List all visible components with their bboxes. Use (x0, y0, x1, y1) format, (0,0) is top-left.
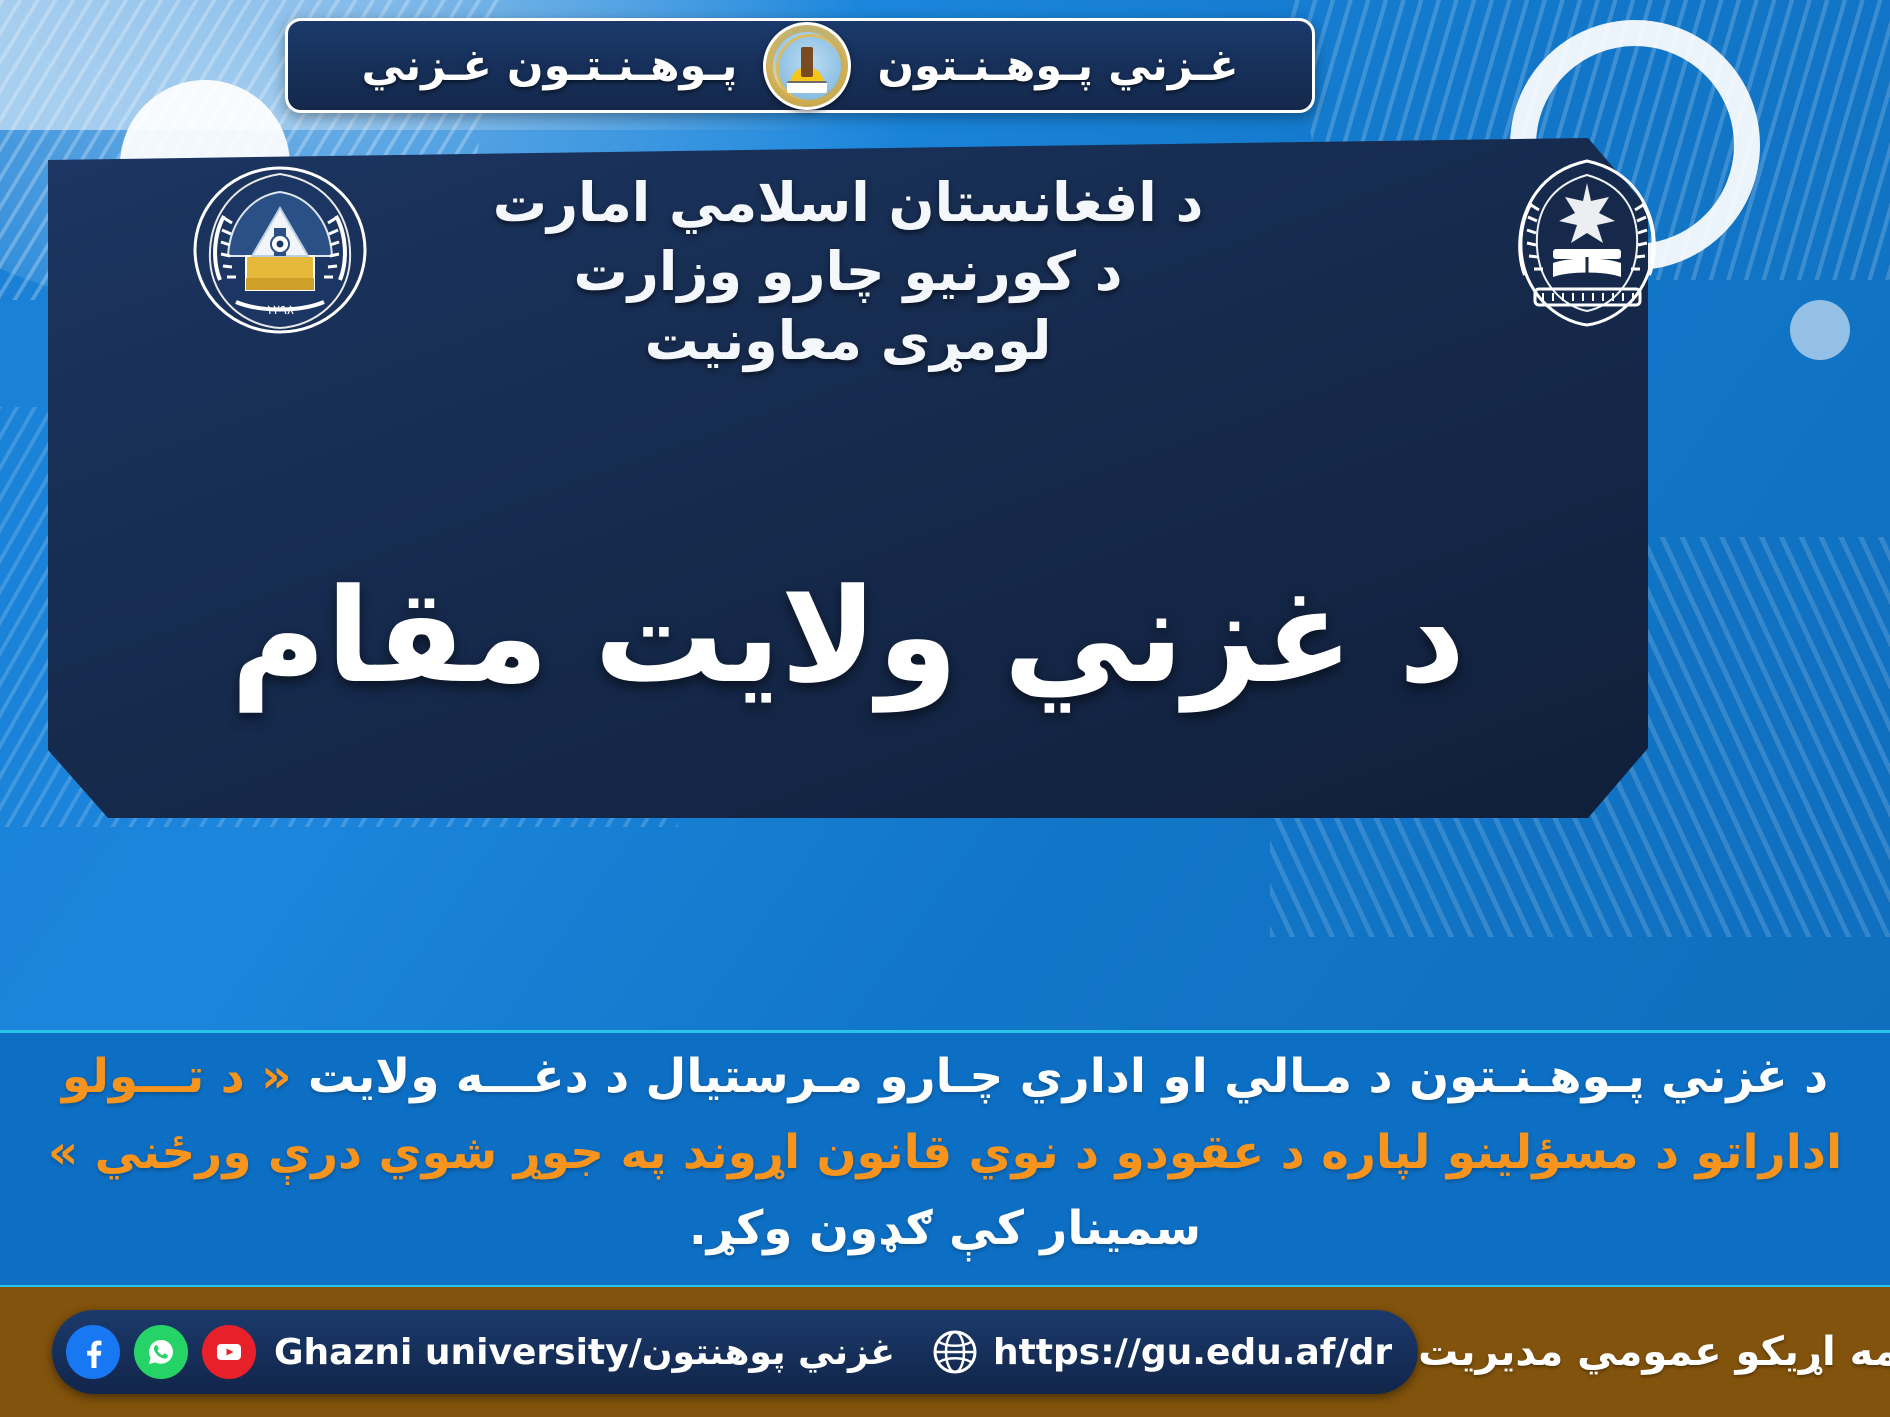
header-title-bar: غـزني پـوهـنـتون پـوهـنـتـون غـزني (285, 18, 1315, 113)
seal-book-shape (787, 81, 827, 93)
header-title-right: غـزني پـوهـنـتون (877, 41, 1238, 91)
footer-department-text: د نشراتو او عامه اړیکو عمومي مدیریت (1418, 1329, 1890, 1375)
header-title-left: پـوهـنـتـون غـزني (361, 41, 737, 91)
globe-icon (931, 1328, 979, 1376)
website-url-text: https://gu.edu.af/dr (993, 1332, 1392, 1373)
caption-text: د غزني پـوهـنـتون د مـالي او اداري چـارو… (26, 1039, 1864, 1267)
footer-bar: Ghazni university/غزني پوهنتون https://g… (0, 1287, 1890, 1417)
website-link[interactable]: https://gu.edu.af/dr (931, 1328, 1392, 1376)
caption-part-2: سمینار کې ګډون وکړ. (689, 1201, 1201, 1256)
plaque-main-title: د غزني ولايت مقام (48, 560, 1648, 712)
whatsapp-icon[interactable] (134, 1325, 188, 1379)
social-handle-text: Ghazni university/غزني پوهنتون (274, 1332, 895, 1373)
poster-canvas: غـزني پـوهـنـتون پـوهـنـتـون غـزني ١٢٩٨ (0, 0, 1890, 1417)
seal-tower-shape (801, 47, 813, 77)
svg-text:١٢٩٨: ١٢٩٨ (266, 303, 294, 318)
islamic-emirate-emblem-icon (1495, 145, 1680, 335)
caption-band: د غزني پـوهـنـتون د مـالي او اداري چـارو… (0, 1030, 1890, 1288)
facebook-icon[interactable] (66, 1325, 120, 1379)
background-circle-small (1790, 300, 1850, 360)
afghanistan-national-emblem-icon: ١٢٩٨ (190, 160, 370, 335)
youtube-icon[interactable] (202, 1325, 256, 1379)
ghazni-university-seal-icon (763, 22, 851, 110)
social-links-pill[interactable]: Ghazni university/غزني پوهنتون https://g… (52, 1310, 1418, 1394)
caption-part-1: د غزني پـوهـنـتون د مـالي او اداري چـارو… (291, 1049, 1828, 1104)
